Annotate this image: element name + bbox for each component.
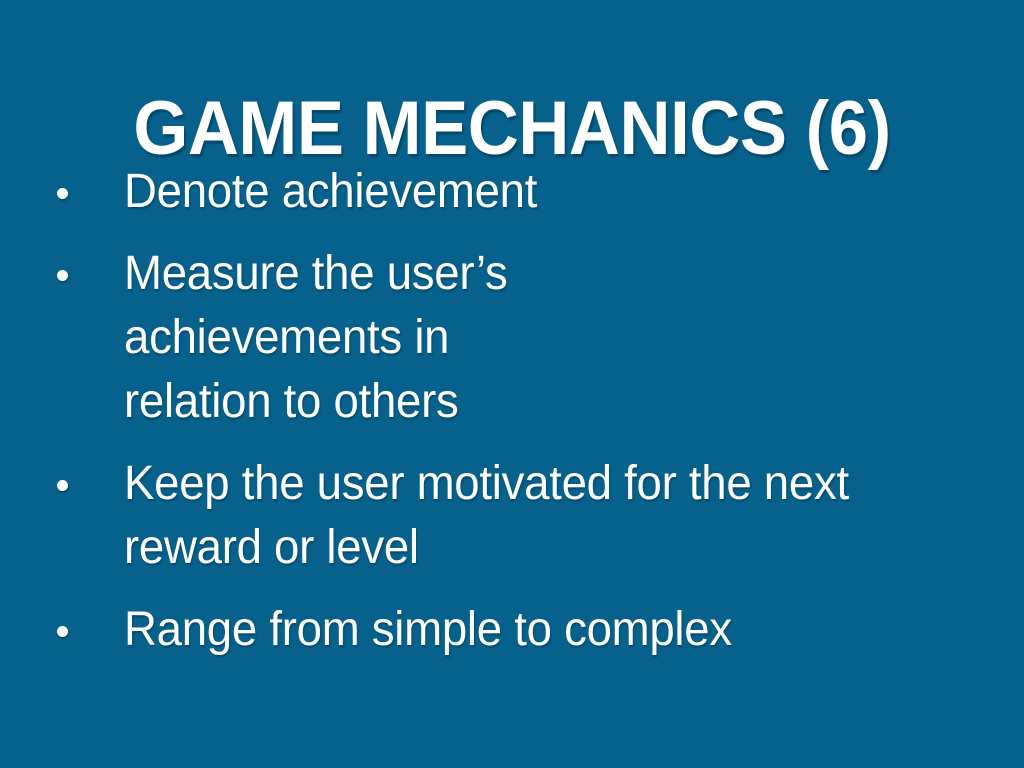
list-item: Measure the user’s achievements in relat…	[0, 242, 1024, 434]
list-item-label: Denote achievement	[124, 160, 941, 224]
presentation-slide: GAME MECHANICS (6) Denote achievement Me…	[0, 0, 1024, 768]
list-item-label: Keep the user motivated for the next rew…	[124, 452, 875, 580]
bullet-dot-icon	[57, 626, 68, 637]
list-item: Denote achievement	[0, 160, 1024, 224]
list-item: Range from simple to complex	[0, 598, 1024, 662]
bullet-dot-icon	[57, 188, 68, 199]
bullet-dot-icon	[57, 270, 68, 281]
slide-title: GAME MECHANICS (6)	[36, 87, 988, 171]
bullet-dot-icon	[57, 480, 68, 491]
list-item-label: Range from simple to complex	[124, 598, 941, 662]
bullet-list: Denote achievement Measure the user’s ac…	[0, 160, 1024, 662]
list-item: Keep the user motivated for the next rew…	[0, 452, 1024, 580]
list-item-label: Measure the user’s achievements in relat…	[124, 242, 571, 434]
